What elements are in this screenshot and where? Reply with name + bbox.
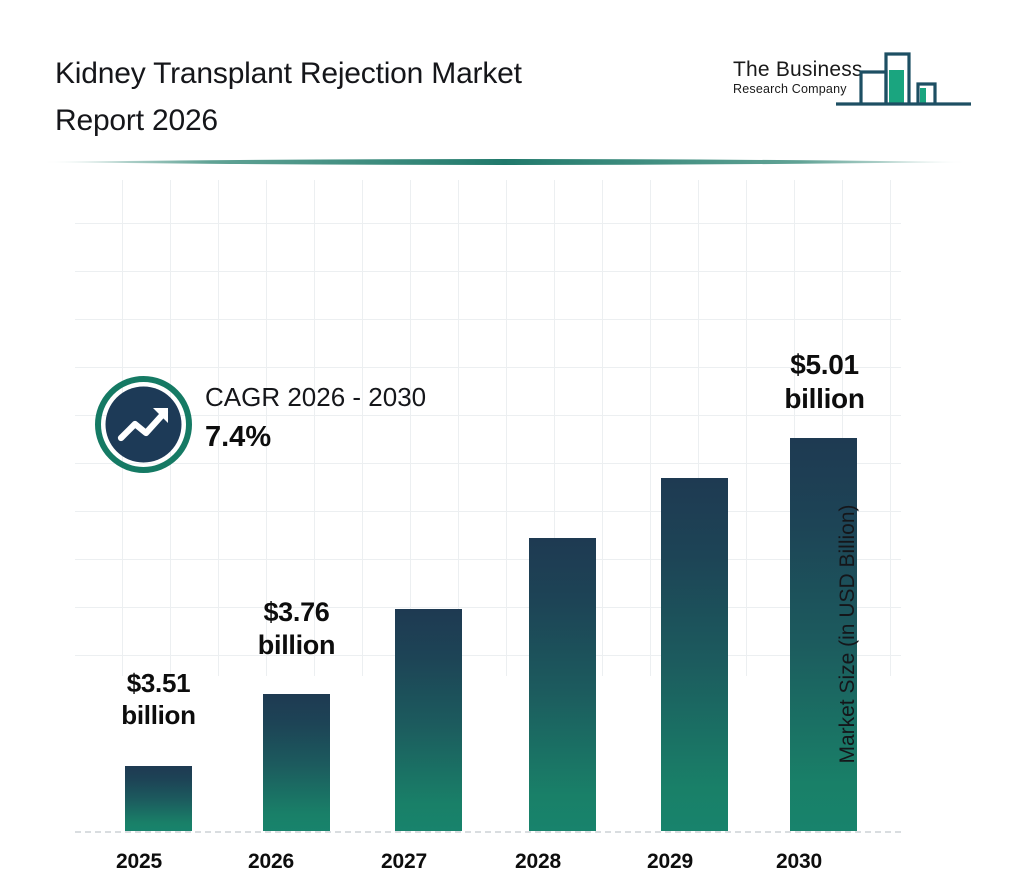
y-axis-title: Market Size (in USD Billion): [836, 464, 860, 804]
bar-2025[interactable]: [125, 766, 192, 831]
bar-value-2025: $3.51 billion: [96, 668, 221, 731]
cagr-text-block: CAGR 2026 - 2030 7.4%: [205, 380, 495, 454]
bar-value-2030: $5.01 billion: [762, 348, 887, 416]
bar-value-2030-unit: billion: [762, 382, 887, 416]
cagr-trending-up-icon: [95, 376, 192, 473]
bar-2027[interactable]: [395, 609, 462, 831]
page-title: Kidney Transplant Rejection Market Repor…: [55, 50, 675, 144]
header: Kidney Transplant Rejection Market Repor…: [0, 0, 1024, 160]
x-tick-2029: 2029: [620, 850, 720, 874]
x-tick-2025: 2025: [89, 850, 189, 874]
bar-chart: $3.51 billion $3.76 billion $5.01 billio…: [0, 168, 1024, 768]
x-axis: 2025 2026 2027 2028 2029 2030: [75, 840, 901, 880]
bar-2026[interactable]: [263, 694, 330, 831]
cagr-value: 7.4%: [205, 420, 495, 454]
bar-value-2030-amount: $5.01: [762, 348, 887, 382]
bar-2028[interactable]: [529, 538, 596, 831]
cagr-badge: CAGR 2026 - 2030 7.4%: [95, 376, 495, 476]
bar-2029[interactable]: [661, 478, 728, 831]
x-tick-2030: 2030: [749, 850, 849, 874]
bar-value-2026-unit: billion: [234, 629, 359, 662]
page-title-line-1: Kidney Transplant Rejection Market: [55, 50, 675, 97]
axis-baseline: [75, 831, 901, 833]
bar-value-2025-unit: billion: [96, 700, 221, 732]
bar-value-2026-amount: $3.76: [234, 596, 359, 629]
cagr-range-label: CAGR 2026 - 2030: [205, 380, 495, 414]
report-infographic: Kidney Transplant Rejection Market Repor…: [0, 0, 1024, 768]
x-tick-2027: 2027: [354, 850, 454, 874]
company-logo: The Business Research Company: [731, 32, 976, 132]
bar-chart-logo-mark-icon: [831, 32, 976, 124]
bar-value-2026: $3.76 billion: [234, 596, 359, 662]
header-divider: [42, 156, 967, 168]
x-tick-2028: 2028: [488, 850, 588, 874]
x-tick-2026: 2026: [221, 850, 321, 874]
bar-value-2025-amount: $3.51: [96, 668, 221, 700]
page-title-line-2: Report 2026: [55, 97, 675, 144]
